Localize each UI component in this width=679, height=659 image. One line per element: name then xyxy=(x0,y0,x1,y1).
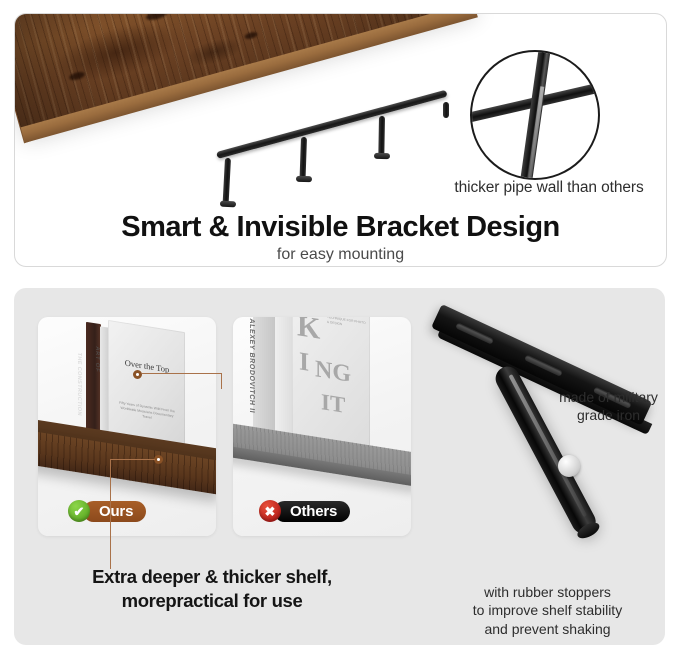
callout-line-iron xyxy=(142,373,222,374)
pipe-end-cap xyxy=(575,520,602,542)
wood-knot xyxy=(68,70,85,81)
t-bracket-product-icon xyxy=(394,288,665,586)
bracket-foot xyxy=(220,201,236,208)
top-panel: thicker pipe wall than others Smart & In… xyxy=(14,13,667,267)
rubber-stopper-icon xyxy=(558,455,580,477)
x-circle-icon: ✖ xyxy=(259,500,281,522)
book-cover-letter-it: IT xyxy=(321,389,345,419)
book-spine-text: ALEXEY BRODOVITCH II xyxy=(248,318,255,414)
callout-line-rubber-vert xyxy=(110,459,111,569)
callout-dot-rubber xyxy=(154,455,163,464)
inset-caption: thicker pipe wall than others xyxy=(426,179,667,197)
bracket-arm xyxy=(300,137,307,179)
annotation-rubber-stoppers: with rubber stoppers to improve shelf st… xyxy=(416,583,679,638)
annotation-rubber-line-2: to improve shelf stability xyxy=(416,601,679,619)
wood-knot xyxy=(244,31,258,40)
bracket-foot xyxy=(374,153,390,159)
book-cover-letter-i: I xyxy=(299,346,309,378)
annotation-rubber-line-1: with rubber stoppers xyxy=(416,583,679,601)
annotation-iron-line-1: made of military xyxy=(538,388,679,406)
bracket-long-rail xyxy=(216,90,448,159)
comparison-caption-line-1: Extra deeper & thicker shelf, xyxy=(22,565,402,589)
callout-line-iron-vert xyxy=(221,373,222,389)
comparison-card-ours: THE CONSTRUCTION ART OF Over the Top Fif… xyxy=(38,317,216,536)
bracket-slot xyxy=(455,322,494,344)
status-badge-ours: ✔ Ours xyxy=(68,500,146,522)
annotation-rubber-line-3: and prevent shaking xyxy=(416,620,679,638)
callout-line-rubber xyxy=(110,459,155,460)
book-spine-text-1: THE CONSTRUCTION xyxy=(76,352,82,416)
shelf-bracket-icon xyxy=(211,100,457,196)
check-circle-icon: ✔ xyxy=(68,500,90,522)
comparison-card-others: ALEXEY BRODOVITCH II K I NG IT EXTRAORDI… xyxy=(233,317,411,536)
book-cover-letter-ng: NG xyxy=(315,356,351,389)
comparison-caption: Extra deeper & thicker shelf, morepracti… xyxy=(22,565,402,612)
annotation-iron-line-2: grade iron xyxy=(538,406,679,424)
bracket-arm xyxy=(223,158,231,204)
page-title: Smart & Invisible Bracket Design xyxy=(15,211,666,244)
product-infographic: thicker pipe wall than others Smart & In… xyxy=(0,0,679,659)
book-cover xyxy=(108,320,185,448)
book-spine-text-2: ART OF xyxy=(94,346,100,373)
annotation-military-iron: made of military grade iron xyxy=(538,388,679,424)
badge-label-ours: Ours xyxy=(83,501,146,522)
inset-bracket-pipe xyxy=(518,50,552,180)
book-mid-spine xyxy=(275,317,293,448)
bracket-slot xyxy=(524,354,563,376)
callout-dot-iron xyxy=(133,370,142,379)
bracket-foot xyxy=(296,176,312,183)
book-cover-letter-k: K xyxy=(297,317,320,347)
bracket-arm xyxy=(443,102,449,118)
comparison-caption-line-2: morepractical for use xyxy=(22,589,402,613)
wood-knot xyxy=(145,13,168,22)
badge-label-others: Others xyxy=(274,501,350,522)
status-badge-others: ✖ Others xyxy=(259,500,350,522)
page-subtitle: for easy mounting xyxy=(15,246,666,264)
book-dark-spine xyxy=(86,322,101,442)
magnifier-circle-icon xyxy=(470,50,600,180)
bracket-arm xyxy=(378,116,385,156)
